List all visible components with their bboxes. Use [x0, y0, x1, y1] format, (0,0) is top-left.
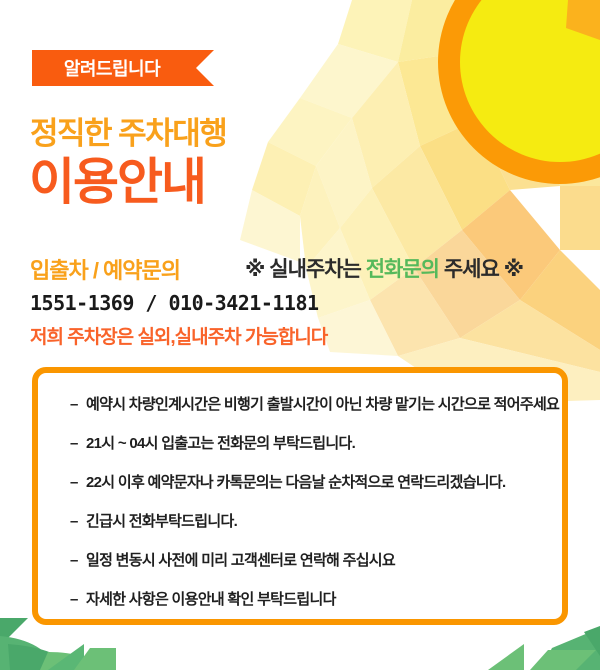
- phone-numbers[interactable]: 1551-1369 / 010-3421-1181: [30, 291, 319, 315]
- notice-text-after: 주세요: [444, 258, 499, 281]
- list-item: 22시 이후 예약문자나 카톡문의는 다음날 순차적으로 연락드리겠습니다.: [70, 475, 532, 490]
- notice-mark-left: ※: [245, 258, 264, 281]
- ribbon-banner: 알려드립니다: [32, 50, 214, 86]
- indoor-parking-notice: ※ 실내주차는 전화문의 주세요 ※: [245, 253, 523, 283]
- headline-title: 이용안내: [29, 157, 205, 207]
- poster-canvas: 알려드립니다 정직한 주차대행 이용안내 입출차 / 예약문의 ※ 실내주차는 …: [0, 0, 600, 670]
- leaf-cluster-right: [488, 626, 600, 670]
- list-item: 긴급시 전화부탁드립니다.: [70, 514, 532, 529]
- leaf-cluster-left: [0, 618, 116, 670]
- notice-text-before: 실내주차는: [269, 258, 361, 281]
- list-item: 일정 변동시 사전에 미리 고객센터로 연락해 주십시요: [70, 553, 532, 568]
- notice-mark-right: ※: [504, 258, 523, 281]
- contact-label: 입출차 / 예약문의: [30, 253, 180, 285]
- ribbon-label: 알려드립니다: [32, 50, 192, 86]
- notice-box: 예약시 차량인계시간은 비행기 출발시간이 아닌 차량 맡기는 시간으로 적어주…: [32, 367, 568, 625]
- headline-subtitle: 정직한 주차대행: [30, 108, 226, 153]
- list-item: 예약시 차량인계시간은 비행기 출발시간이 아닌 차량 맡기는 시간으로 적어주…: [70, 397, 532, 412]
- parking-tagline: 저희 주차장은 실외,실내주차 가능합니다: [30, 322, 327, 349]
- list-item: 21시 ~ 04시 입출고는 전화문의 부탁드립니다.: [70, 436, 532, 451]
- notice-bullet-list: 예약시 차량인계시간은 비행기 출발시간이 아닌 차량 맡기는 시간으로 적어주…: [70, 397, 532, 607]
- sun-graphic: [438, 0, 600, 184]
- list-item: 자세한 사항은 이용안내 확인 부탁드립니다: [70, 592, 532, 607]
- notice-highlight-phone: 전화문의: [366, 258, 439, 281]
- accent-sliver: [566, 0, 600, 40]
